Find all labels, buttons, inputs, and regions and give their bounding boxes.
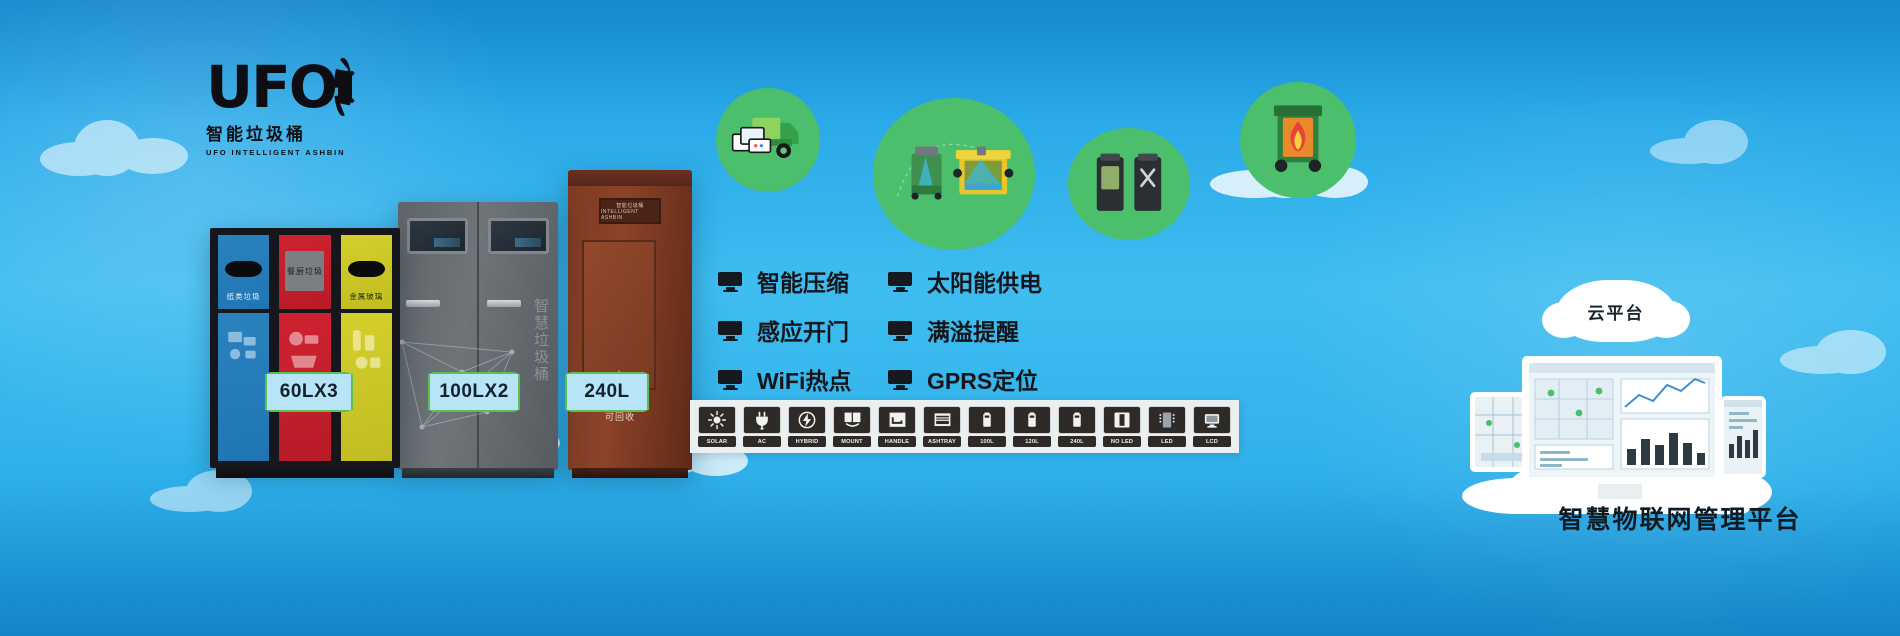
handle-icon (887, 411, 908, 430)
brown-sign-line1: 智能垃圾桶 (616, 202, 644, 209)
monitor-stand (1598, 484, 1642, 500)
feature-label: 满溢提醒 (927, 313, 1019, 347)
bin-panel-label: 金属玻璃 (341, 291, 392, 302)
phone-chart-graphic (1724, 400, 1762, 474)
spec-item-no-led: NO LED (1103, 406, 1141, 447)
monitor-screen (1529, 363, 1715, 477)
feature-label: GPRS定位 (927, 362, 1038, 396)
spec-item-hybrid: HYBRID (788, 406, 826, 447)
logo-wordmark: UFO (206, 60, 336, 114)
gray-bin-door-left (398, 202, 479, 470)
capacity-100l-icon (978, 410, 996, 430)
gray-bin-handle (406, 300, 440, 307)
feature-row: WiFi热点 (718, 362, 872, 396)
cloud-platform-label: 云平台 (1556, 280, 1676, 342)
capacity-ribbon-240l: 240L (565, 372, 649, 412)
fill-level-sensor-icon (892, 134, 1016, 214)
gray-bin-vertical-text: 智慧垃圾桶 (530, 298, 550, 383)
brown-bin-sign: 智能垃圾桶 INTELLIGENT ASHBIN (599, 198, 661, 224)
capacity-240l-icon (1068, 410, 1086, 430)
circle-icon-fire-alarm (1240, 82, 1356, 198)
brown-sign-line2: INTELLIGENT ASHBIN (601, 209, 659, 221)
bin-panel-label: 餐厨垃圾 (285, 251, 324, 291)
bin-slot-icon (225, 261, 262, 277)
spec-icon-strip: SOLAR AC HYBRID MOUNT (690, 400, 1239, 453)
bin-slot-icon (348, 261, 385, 277)
feature-label: 智能压缩 (757, 264, 849, 298)
bin-panel-label: 纸类垃圾 (218, 291, 269, 302)
spec-item-solar: SOLAR (698, 406, 736, 447)
feature-row: 太阳能供电 (888, 264, 1088, 298)
banner-stage: UFO 智能垃圾桶 UFO INTELLIGENT ASHBIN 智能垃圾桶 I… (0, 0, 1900, 636)
brown-bin-base (572, 468, 688, 478)
ac-plug-icon (752, 410, 772, 430)
monitor-bullet-icon (718, 272, 742, 291)
waste-illustration-icon (218, 313, 269, 381)
spec-item-handle: HANDLE (878, 406, 916, 447)
hybrid-power-icon (797, 410, 817, 430)
platform-caption: 智慧物联网管理平台 (1450, 500, 1900, 536)
gray-bin-handle (487, 300, 521, 307)
logo-wordmark-row: UFO (206, 56, 326, 118)
monitor-bullet-icon (888, 321, 912, 340)
three-color-bin-base (216, 468, 394, 478)
spec-item-led: LED (1148, 406, 1186, 447)
circle-icon-collection-truck (716, 88, 820, 192)
dashboard-graphic (1529, 363, 1715, 477)
cloud-platform-badge: 云平台 (1556, 280, 1676, 342)
spec-item-ashtray: ASHTRAY (923, 406, 961, 447)
circle-icon-dual-bin (1068, 128, 1190, 240)
waste-illustration-icon (341, 313, 392, 381)
phone-device (1720, 396, 1766, 478)
spec-label: HANDLE (878, 436, 916, 447)
spec-label: NO LED (1103, 436, 1141, 447)
feature-label: WiFi热点 (757, 362, 851, 396)
brand-logo: UFO 智能垃圾桶 UFO INTELLIGENT ASHBIN (206, 56, 326, 157)
spec-item-ac: AC (743, 406, 781, 447)
waste-illustration-icon (279, 313, 330, 381)
capacity-120l-icon (1023, 410, 1041, 430)
desktop-monitor (1522, 356, 1722, 484)
feature-row: 满溢提醒 (888, 313, 1088, 347)
gray-bin-screen (488, 218, 548, 254)
capacity-ribbon-60lx3: 60LX3 (265, 372, 353, 412)
feature-row: 智能压缩 (718, 264, 872, 298)
circle-icon-fill-sensor (873, 98, 1035, 250)
bin-panel-kitchen: 餐厨垃圾 (276, 232, 333, 464)
monitor-bullet-icon (888, 272, 912, 291)
spec-label: HYBRID (788, 436, 826, 447)
spec-item-100l: 100L (968, 406, 1006, 447)
spec-item-120l: 120L (1013, 406, 1051, 447)
spec-label: MOUNT (833, 436, 871, 447)
feature-row: 感应开门 (718, 313, 872, 347)
brown-bin: 智能垃圾桶 INTELLIGENT ASHBIN 可回收 (568, 170, 692, 470)
spec-label: 120L (1013, 436, 1051, 447)
gray-bin-door-right: 智慧垃圾桶 (479, 202, 558, 470)
spec-label: LCD (1193, 436, 1231, 447)
brown-bin-lid (568, 170, 692, 186)
feature-row: GPRS定位 (888, 362, 1088, 396)
spec-item-mount: MOUNT (833, 406, 871, 447)
spec-item-lcd: LCD (1193, 406, 1231, 447)
wall-mount-icon (842, 411, 863, 430)
no-led-icon (1112, 410, 1132, 430)
monitor-bullet-icon (888, 370, 912, 389)
logo-name-cn: 智能垃圾桶 (206, 120, 326, 145)
gray-bin-screen (407, 218, 467, 254)
lcd-icon (1202, 411, 1222, 430)
spec-label: 100L (968, 436, 1006, 447)
bin-panel-metalglass: 金属玻璃 (338, 232, 395, 464)
three-color-bin: 纸类垃圾 餐厨垃圾 (210, 228, 400, 468)
monitor-bullet-icon (718, 370, 742, 389)
spec-label: AC (743, 436, 781, 447)
spec-label: LED (1148, 436, 1186, 447)
fire-alarm-icon (1258, 100, 1338, 180)
spec-label: SOLAR (698, 436, 736, 447)
feature-label: 太阳能供电 (927, 264, 1042, 298)
spec-item-240l: 240L (1058, 406, 1096, 447)
collection-truck-icon (731, 111, 805, 169)
feature-label: 感应开门 (757, 313, 849, 347)
spec-label: 240L (1058, 436, 1096, 447)
dual-bin-compare-icon (1086, 150, 1172, 218)
phone-screen (1724, 400, 1762, 474)
gray-bin-base (402, 468, 554, 478)
bin-panel-recyclable: 纸类垃圾 (215, 232, 272, 464)
solar-panel-icon (707, 410, 727, 430)
monitor-bullet-icon (718, 321, 742, 340)
led-icon (1157, 410, 1177, 430)
capacity-ribbon-100lx2: 100LX2 (428, 372, 520, 412)
product-lineup: 智能垃圾桶 INTELLIGENT ASHBIN 可回收 (180, 150, 700, 470)
spec-label: ASHTRAY (923, 436, 961, 447)
gray-bin: 智慧垃圾桶 (398, 202, 558, 470)
ashtray-icon (932, 411, 953, 430)
